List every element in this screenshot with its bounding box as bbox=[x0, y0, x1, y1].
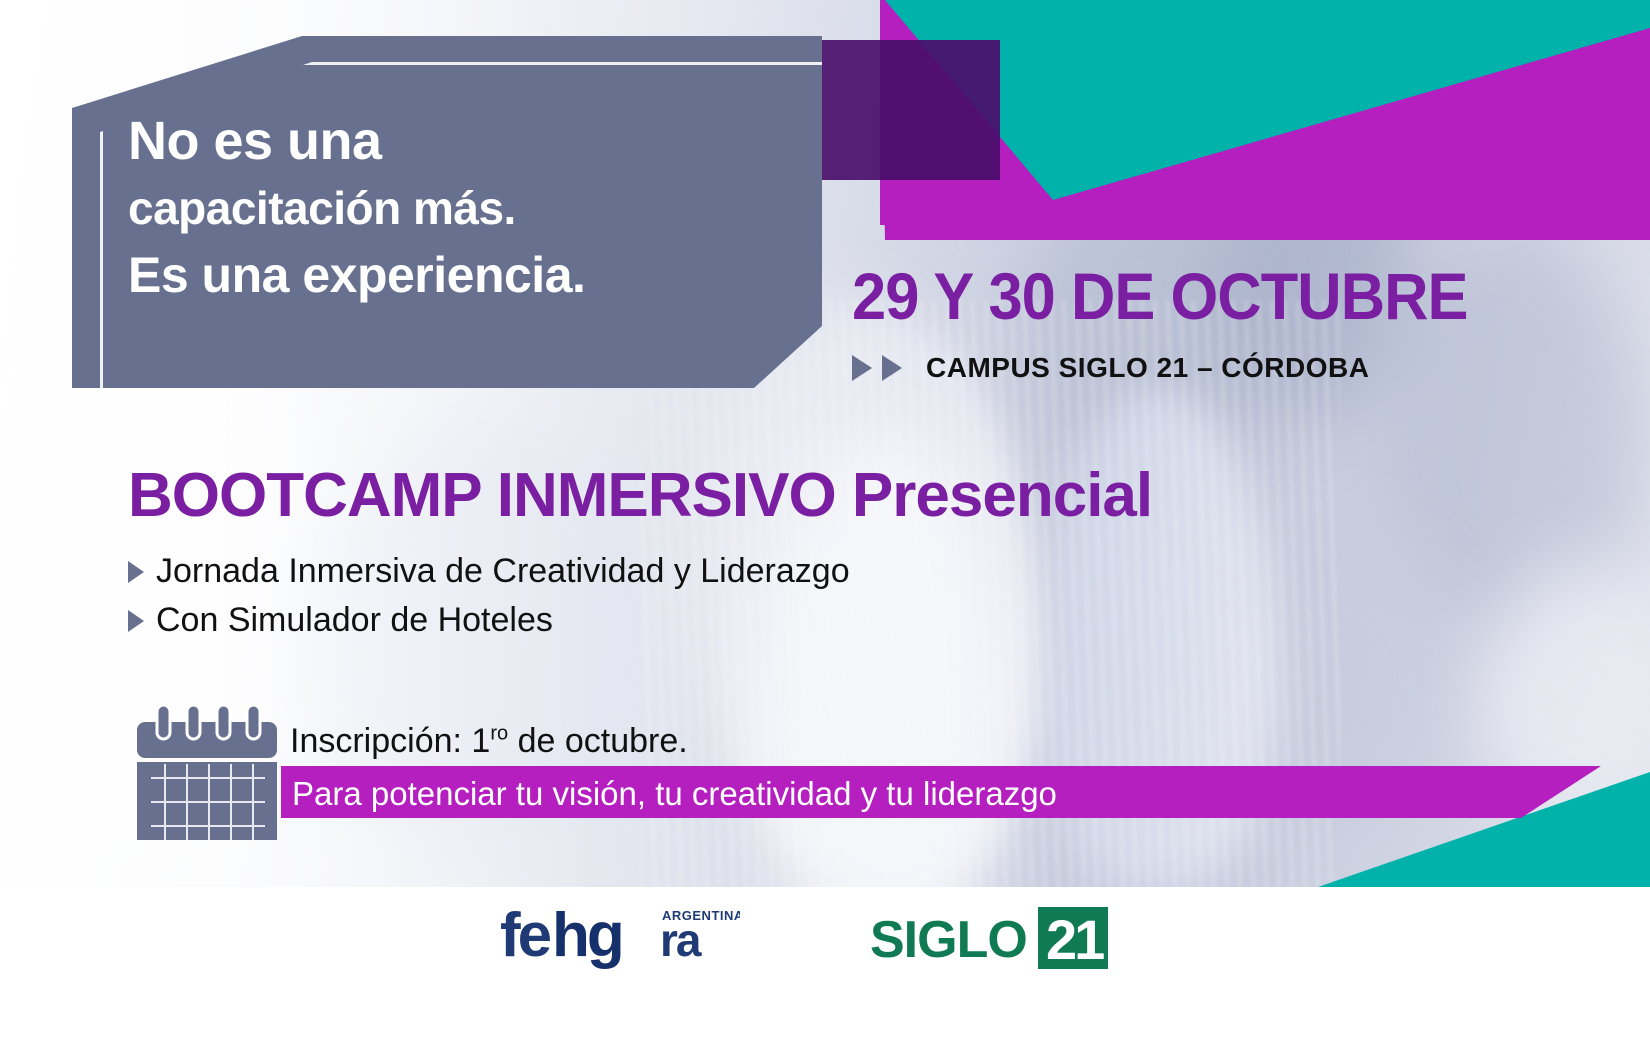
feature-list: Jornada Inmersiva de Creatividad y Lider… bbox=[128, 552, 850, 650]
heading-secondary: Presencial bbox=[852, 461, 1152, 530]
quote-line-3: Es una experiencia. bbox=[128, 248, 808, 302]
double-triangle-icon bbox=[852, 355, 872, 381]
inscription-ordinal: ro bbox=[490, 723, 508, 745]
triangle-bullet-icon bbox=[128, 561, 144, 583]
fehgra-logo: fe hg ra ARGENTINA bbox=[500, 898, 740, 970]
quote-line-1: No es una bbox=[128, 112, 808, 170]
triangle-bullet-icon bbox=[128, 610, 144, 632]
heading-primary: BOOTCAMP INMERSIVO bbox=[128, 461, 836, 530]
list-item: Jornada Inmersiva de Creatividad y Lider… bbox=[128, 552, 850, 591]
dark-purple-accent bbox=[795, 40, 1000, 180]
siglo-wordmark: SIGLO bbox=[870, 911, 1027, 969]
venue-label: CAMPUS SIGLO 21 – CÓRDOBA bbox=[926, 352, 1369, 384]
siglo21-logo: SIGLO 21 bbox=[870, 905, 1130, 971]
inscription-prefix: Inscripción: 1 bbox=[290, 722, 490, 760]
tagline-text: Para potenciar tu visión, tu creatividad… bbox=[292, 775, 1057, 813]
event-venue: CAMPUS SIGLO 21 – CÓRDOBA bbox=[852, 352, 1369, 384]
fehgra-wordmark-hg: hg bbox=[552, 901, 622, 970]
inscription-suffix: de octubre. bbox=[508, 722, 688, 760]
list-item-label: Jornada Inmersiva de Creatividad y Lider… bbox=[156, 552, 850, 591]
flyer-canvas: No es una capacitación más. Es una exper… bbox=[0, 0, 1650, 1050]
quote-text-block: No es una capacitación más. Es una exper… bbox=[128, 112, 808, 302]
calendar-icon bbox=[133, 700, 281, 840]
list-item: Con Simulador de Hoteles bbox=[128, 601, 850, 640]
inscription-text: Inscripción: 1ro de octubre. bbox=[290, 722, 688, 761]
footer-bar bbox=[0, 887, 1650, 1050]
fehgra-wordmark-fe: fe bbox=[500, 901, 551, 970]
page-title: BOOTCAMP INMERSIVO Presencial bbox=[128, 460, 1152, 531]
event-date: 29 Y 30 DE OCTUBRE bbox=[852, 258, 1468, 334]
list-item-label: Con Simulador de Hoteles bbox=[156, 601, 553, 640]
fehgra-country-label: ARGENTINA bbox=[662, 908, 740, 923]
quote-line-2: capacitación más. bbox=[128, 184, 808, 234]
siglo-number: 21 bbox=[1046, 908, 1104, 971]
double-triangle-icon bbox=[882, 355, 902, 381]
